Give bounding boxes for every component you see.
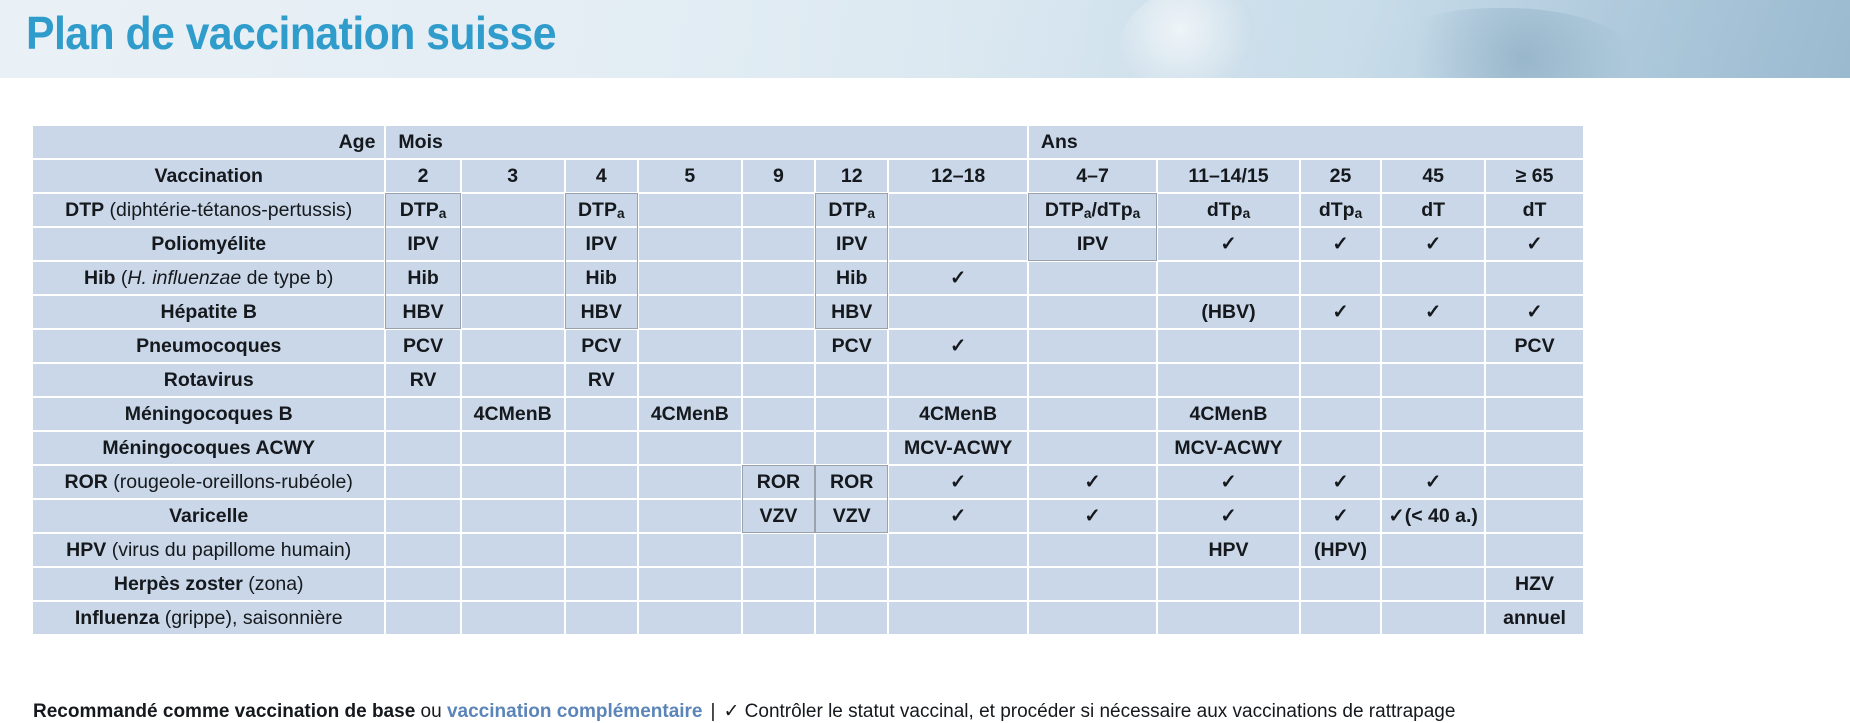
cell-r2-c5 [743, 228, 814, 260]
years-group-header: Ans [1029, 126, 1583, 158]
cell-r8-c12 [1486, 432, 1583, 464]
cell-r4-c8 [1029, 296, 1156, 328]
table-row: Hépatite BHBVHBVHBV(HBV)✓✓✓ [33, 296, 1583, 328]
cell-r7-c2: 4CMenB [462, 398, 564, 430]
table-row: Herpès zoster (zona)HZV [33, 568, 1583, 600]
cell-r10-c10: ✓ [1301, 500, 1380, 532]
cell-r8-c5 [743, 432, 814, 464]
cell-r5-c5 [743, 330, 814, 362]
cell-r11-c8 [1029, 534, 1156, 566]
cell-r3-c12 [1486, 262, 1583, 294]
cell-r10-c6: VZV [816, 500, 887, 532]
cell-r12-c12: HZV [1486, 568, 1583, 600]
legend-conjunction: ou [415, 701, 447, 722]
cell-r13-c11 [1382, 602, 1484, 634]
cell-r1-c8: DTPa/dTpa [1029, 194, 1156, 226]
cell-r7-c4: 4CMenB [639, 398, 741, 430]
cell-r2-c9: ✓ [1158, 228, 1299, 260]
vaccination-schedule-table: Age Mois Ans Vaccination 234591212–184–7… [31, 124, 1585, 636]
cell-r4-c12: ✓ [1486, 296, 1583, 328]
age-group-header-row: Age Mois Ans [33, 126, 1583, 158]
cell-r1-c11: dT [1382, 194, 1484, 226]
cell-r13-c2 [462, 602, 564, 634]
cell-r3-c6: Hib [816, 262, 887, 294]
table-row: HPV (virus du papillome humain)HPV(HPV) [33, 534, 1583, 566]
cell-r1-c10: dTpa [1301, 194, 1380, 226]
cell-r12-c9 [1158, 568, 1299, 600]
cell-r8-c11 [1382, 432, 1484, 464]
cell-r2-c8: IPV [1029, 228, 1156, 260]
cell-r1-c4 [639, 194, 741, 226]
cell-r6-c5 [743, 364, 814, 396]
cell-r3-c2 [462, 262, 564, 294]
schedule-body: DTP (diphtérie-tétanos-pertussis)DTPaDTP… [33, 194, 1583, 634]
row-label-2: Poliomyélite [33, 228, 384, 260]
legend-checkmark-text: ✓ Contrôler le statut vaccinal, et procé… [723, 701, 1455, 722]
cell-r9-c4 [639, 466, 741, 498]
cell-r5-c8 [1029, 330, 1156, 362]
cell-r13-c3 [566, 602, 637, 634]
cell-r9-c12 [1486, 466, 1583, 498]
cell-r3-c8 [1029, 262, 1156, 294]
cell-r6-c9 [1158, 364, 1299, 396]
row-label-11: HPV (virus du papillome humain) [33, 534, 384, 566]
cell-r2-c4 [639, 228, 741, 260]
cell-r2-c6: IPV [816, 228, 887, 260]
table-row: Méningocoques B4CMenB4CMenB4CMenB4CMenB [33, 398, 1583, 430]
cell-r7-c6 [816, 398, 887, 430]
cell-r11-c9: HPV [1158, 534, 1299, 566]
row-label-3: Hib (H. influenzae de type b) [33, 262, 384, 294]
cell-r4-c6: HBV [816, 296, 887, 328]
row-label-13: Influenza (grippe), saisonnière [33, 602, 384, 634]
cell-r6-c11 [1382, 364, 1484, 396]
cell-r3-c3: Hib [566, 262, 637, 294]
month-column-header-3: 4 [566, 160, 637, 192]
cell-r11-c7 [889, 534, 1027, 566]
cell-r3-c9 [1158, 262, 1299, 294]
cell-r4-c1: HBV [386, 296, 459, 328]
cell-r1-c9: dTpa [1158, 194, 1299, 226]
cell-r3-c4 [639, 262, 741, 294]
cell-r2-c10: ✓ [1301, 228, 1380, 260]
cell-r6-c12 [1486, 364, 1583, 396]
cell-r10-c12 [1486, 500, 1583, 532]
cell-r8-c8 [1029, 432, 1156, 464]
cell-r10-c11: ✓(< 40 a.) [1382, 500, 1484, 532]
cell-r3-c1: Hib [386, 262, 459, 294]
cell-r11-c12 [1486, 534, 1583, 566]
cell-r10-c7: ✓ [889, 500, 1027, 532]
cell-r12-c4 [639, 568, 741, 600]
row-label-9: ROR (rougeole-oreillons-rubéole) [33, 466, 384, 498]
cell-r1-c5 [743, 194, 814, 226]
row-label-10: Varicelle [33, 500, 384, 532]
cell-r1-c1: DTPa [386, 194, 459, 226]
year-column-header-5: ≥ 65 [1486, 160, 1583, 192]
cell-r8-c6 [816, 432, 887, 464]
cell-r13-c4 [639, 602, 741, 634]
age-header-label: Age [33, 126, 384, 158]
cell-r1-c12: dT [1486, 194, 1583, 226]
page-title: Plan de vaccination suisse [26, 6, 556, 60]
year-column-header-4: 45 [1382, 160, 1484, 192]
cell-r11-c2 [462, 534, 564, 566]
month-column-header-1: 2 [386, 160, 459, 192]
cell-r8-c3 [566, 432, 637, 464]
cell-r13-c5 [743, 602, 814, 634]
cell-r4-c4 [639, 296, 741, 328]
cell-r12-c11 [1382, 568, 1484, 600]
cell-r2-c11: ✓ [1382, 228, 1484, 260]
cell-r9-c1 [386, 466, 459, 498]
cell-r11-c1 [386, 534, 459, 566]
cell-r12-c5 [743, 568, 814, 600]
row-label-1: DTP (diphtérie-tétanos-pertussis) [33, 194, 384, 226]
legend-separator: | [703, 701, 724, 722]
cell-r8-c2 [462, 432, 564, 464]
cell-r10-c1 [386, 500, 459, 532]
cell-r8-c1 [386, 432, 459, 464]
cell-r9-c5: ROR [743, 466, 814, 498]
vaccination-column-header: Vaccination [33, 160, 384, 192]
cell-r13-c9 [1158, 602, 1299, 634]
cell-r9-c8: ✓ [1029, 466, 1156, 498]
table-row: PneumocoquesPCVPCVPCV✓PCV [33, 330, 1583, 362]
table-row: PoliomyéliteIPVIPVIPVIPV✓✓✓✓ [33, 228, 1583, 260]
row-label-8: Méningocoques ACWY [33, 432, 384, 464]
cell-r4-c10: ✓ [1301, 296, 1380, 328]
cell-r9-c9: ✓ [1158, 466, 1299, 498]
cell-r9-c11: ✓ [1382, 466, 1484, 498]
month-column-header-7: 12–18 [889, 160, 1027, 192]
cell-r4-c7 [889, 296, 1027, 328]
cell-r5-c10 [1301, 330, 1380, 362]
cell-r2-c7 [889, 228, 1027, 260]
year-column-header-2: 11–14/15 [1158, 160, 1299, 192]
cell-r4-c9: (HBV) [1158, 296, 1299, 328]
cell-r8-c4 [639, 432, 741, 464]
table-row: Influenza (grippe), saisonnièreannuel [33, 602, 1583, 634]
cell-r7-c10 [1301, 398, 1380, 430]
cell-r5-c1: PCV [386, 330, 459, 362]
cell-r11-c4 [639, 534, 741, 566]
cell-r6-c7 [889, 364, 1027, 396]
table-row: Méningocoques ACWYMCV-ACWYMCV-ACWY [33, 432, 1583, 464]
legend-footer: Recommandé comme vaccination de base ou … [33, 700, 1833, 723]
cell-r7-c3 [566, 398, 637, 430]
cell-r11-c6 [816, 534, 887, 566]
cell-r7-c9: 4CMenB [1158, 398, 1299, 430]
cell-r13-c10 [1301, 602, 1380, 634]
schedule-grid: Age Mois Ans Vaccination 234591212–184–7… [31, 124, 1585, 636]
months-group-header: Mois [386, 126, 1026, 158]
row-label-7: Méningocoques B [33, 398, 384, 430]
cell-r7-c7: 4CMenB [889, 398, 1027, 430]
month-column-header-6: 12 [816, 160, 887, 192]
cell-r7-c8 [1029, 398, 1156, 430]
cell-r11-c5 [743, 534, 814, 566]
column-header-row: Vaccination 234591212–184–711–14/152545≥… [33, 160, 1583, 192]
cell-r13-c1 [386, 602, 459, 634]
cell-r10-c8: ✓ [1029, 500, 1156, 532]
cell-r11-c11 [1382, 534, 1484, 566]
cell-r4-c3: HBV [566, 296, 637, 328]
cell-r3-c11 [1382, 262, 1484, 294]
cell-r1-c3: DTPa [566, 194, 637, 226]
cell-r6-c1: RV [386, 364, 459, 396]
cell-r7-c1 [386, 398, 459, 430]
cell-r3-c10 [1301, 262, 1380, 294]
cell-r7-c12 [1486, 398, 1583, 430]
cell-r9-c6: ROR [816, 466, 887, 498]
cell-r5-c2 [462, 330, 564, 362]
banner-bottom-strip [0, 78, 1850, 92]
cell-r4-c11: ✓ [1382, 296, 1484, 328]
table-row: VaricelleVZVVZV✓✓✓✓✓(< 40 a.) [33, 500, 1583, 532]
cell-r12-c3 [566, 568, 637, 600]
cell-r13-c12: annuel [1486, 602, 1583, 634]
cell-r5-c11 [1382, 330, 1484, 362]
row-label-12: Herpès zoster (zona) [33, 568, 384, 600]
month-column-header-2: 3 [462, 160, 564, 192]
month-column-header-5: 9 [743, 160, 814, 192]
cell-r6-c2 [462, 364, 564, 396]
cell-r12-c10 [1301, 568, 1380, 600]
cell-r4-c2 [462, 296, 564, 328]
cell-r12-c6 [816, 568, 887, 600]
cell-r4-c5 [743, 296, 814, 328]
row-label-5: Pneumocoques [33, 330, 384, 362]
cell-r6-c8 [1029, 364, 1156, 396]
cell-r10-c5: VZV [743, 500, 814, 532]
row-label-6: Rotavirus [33, 364, 384, 396]
cell-r3-c5 [743, 262, 814, 294]
cell-r1-c2 [462, 194, 564, 226]
cell-r5-c7: ✓ [889, 330, 1027, 362]
cell-r8-c10 [1301, 432, 1380, 464]
cell-r6-c10 [1301, 364, 1380, 396]
cell-r10-c3 [566, 500, 637, 532]
cell-r2-c2 [462, 228, 564, 260]
page-banner: Plan de vaccination suisse [0, 0, 1850, 92]
cell-r13-c7 [889, 602, 1027, 634]
table-row: RotavirusRVRV [33, 364, 1583, 396]
cell-r11-c3 [566, 534, 637, 566]
cell-r9-c7: ✓ [889, 466, 1027, 498]
cell-r10-c9: ✓ [1158, 500, 1299, 532]
year-column-header-3: 25 [1301, 160, 1380, 192]
cell-r1-c6: DTPa [816, 194, 887, 226]
cell-r3-c7: ✓ [889, 262, 1027, 294]
legend-base-text: Recommandé comme vaccination de base [33, 701, 415, 722]
cell-r9-c2 [462, 466, 564, 498]
table-row: DTP (diphtérie-tétanos-pertussis)DTPaDTP… [33, 194, 1583, 226]
cell-r10-c2 [462, 500, 564, 532]
cell-r5-c6: PCV [816, 330, 887, 362]
cell-r6-c3: RV [566, 364, 637, 396]
cell-r5-c4 [639, 330, 741, 362]
cell-r12-c2 [462, 568, 564, 600]
cell-r5-c12: PCV [1486, 330, 1583, 362]
cell-r13-c6 [816, 602, 887, 634]
cell-r2-c12: ✓ [1486, 228, 1583, 260]
cell-r8-c7: MCV-ACWY [889, 432, 1027, 464]
month-column-header-4: 5 [639, 160, 741, 192]
year-column-header-1: 4–7 [1029, 160, 1156, 192]
cell-r2-c3: IPV [566, 228, 637, 260]
cell-r10-c4 [639, 500, 741, 532]
table-row: Hib (H. influenzae de type b)HibHibHib✓ [33, 262, 1583, 294]
cell-r7-c5 [743, 398, 814, 430]
row-label-4: Hépatite B [33, 296, 384, 328]
cell-r7-c11 [1382, 398, 1484, 430]
cell-r9-c10: ✓ [1301, 466, 1380, 498]
cell-r1-c7 [889, 194, 1027, 226]
cell-r6-c6 [816, 364, 887, 396]
table-row: ROR (rougeole-oreillons-rubéole)RORROR✓✓… [33, 466, 1583, 498]
cell-r2-c1: IPV [386, 228, 459, 260]
cell-r5-c9 [1158, 330, 1299, 362]
cell-r12-c1 [386, 568, 459, 600]
cell-r12-c8 [1029, 568, 1156, 600]
cell-r13-c8 [1029, 602, 1156, 634]
legend-complementary-text: vaccination complémentaire [447, 701, 703, 722]
cell-r8-c9: MCV-ACWY [1158, 432, 1299, 464]
cell-r9-c3 [566, 466, 637, 498]
cell-r6-c4 [639, 364, 741, 396]
cell-r5-c3: PCV [566, 330, 637, 362]
cell-r11-c10: (HPV) [1301, 534, 1380, 566]
cell-r12-c7 [889, 568, 1027, 600]
